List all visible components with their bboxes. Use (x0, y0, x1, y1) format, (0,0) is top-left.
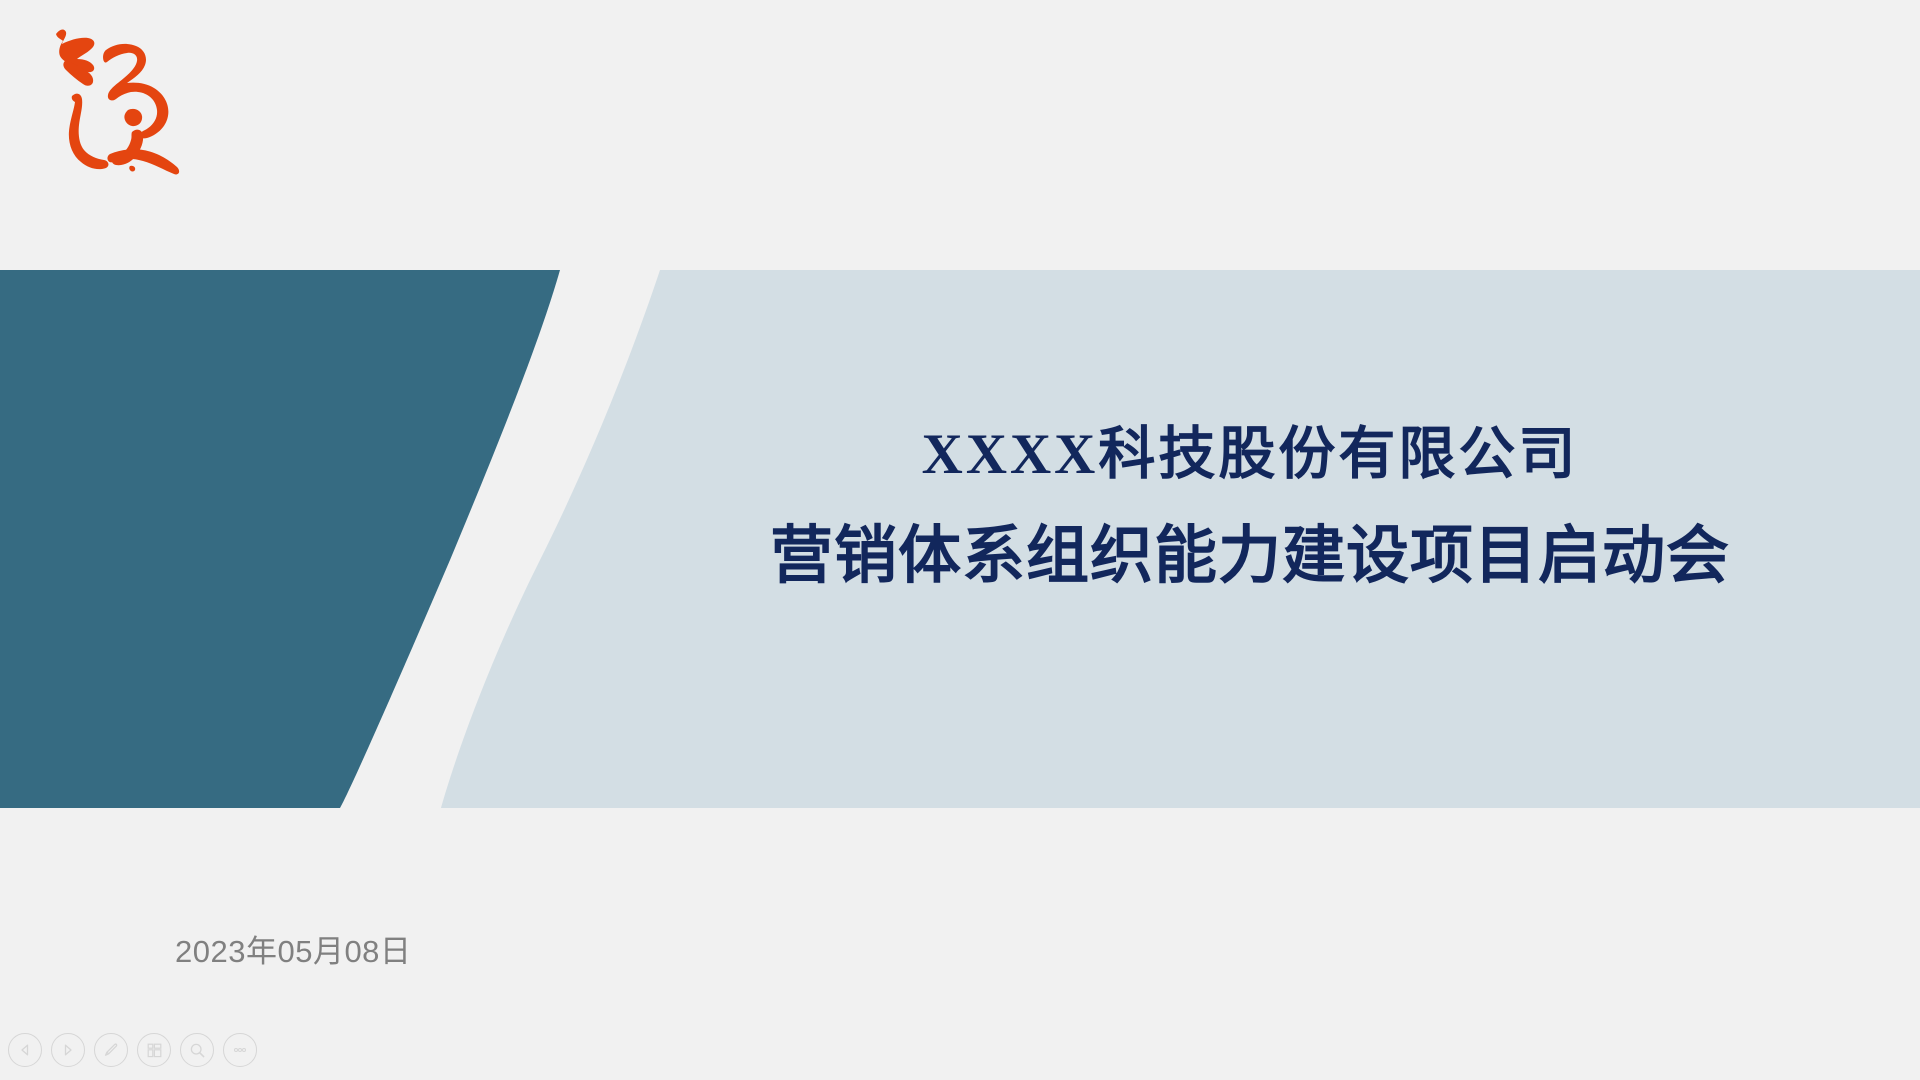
slide-grid-button[interactable] (137, 1033, 171, 1067)
page-title-line-1: XXXX科技股份有限公司 (660, 420, 1840, 490)
slide-date: 2023年05月08日 (175, 926, 411, 971)
triangle-right-icon (60, 1042, 76, 1058)
page-title-line-2: 营销体系组织能力建设项目启动会 (660, 514, 1840, 599)
ellipsis-icon (231, 1041, 249, 1059)
previous-slide-button[interactable] (8, 1033, 42, 1067)
viewer-toolbar (8, 1028, 257, 1072)
dark-teal-band-shape (0, 270, 560, 808)
slide-title-block: XXXX科技股份有限公司 营销体系组织能力建设项目启动会 (660, 420, 1840, 599)
triangle-left-icon (17, 1042, 33, 1058)
calligraphy-brand-logo-icon (56, 30, 179, 175)
pen-icon (101, 1040, 121, 1060)
more-options-button[interactable] (223, 1033, 257, 1067)
brand-logo (44, 14, 204, 179)
pen-tool-button[interactable] (94, 1033, 128, 1067)
zoom-tool-button[interactable] (180, 1033, 214, 1067)
slide-canvas: XXXX科技股份有限公司 营销体系组织能力建设项目启动会 2023年05月08日 (0, 0, 1920, 1080)
next-slide-button[interactable] (51, 1033, 85, 1067)
grid-slides-icon (145, 1041, 164, 1060)
magnifier-icon (188, 1041, 207, 1060)
